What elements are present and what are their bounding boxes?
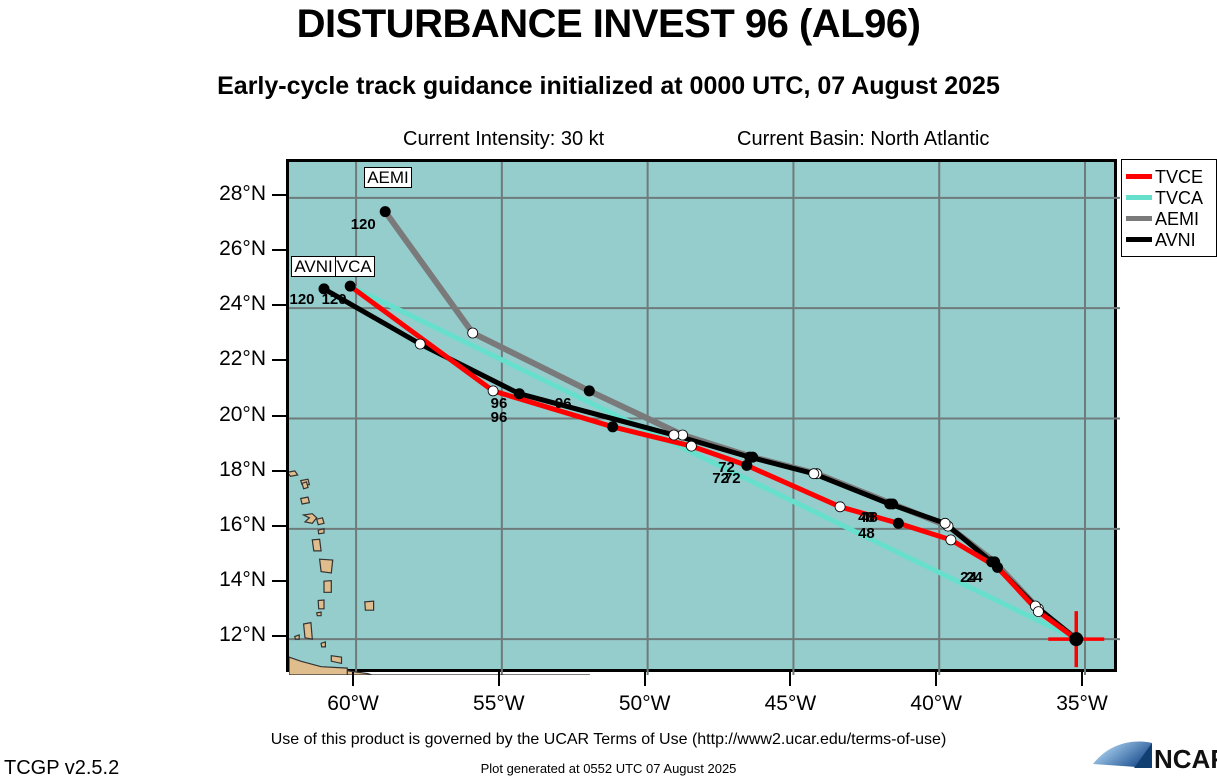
track-point-avni-108[interactable] [415,339,425,349]
forecast-hour-label-avni-48: 48 [861,509,878,526]
track-point-avni-84[interactable] [669,430,679,440]
y-axis-label: 22°N [186,347,266,371]
current-intensity-text: Current Intensity: 30 kt [403,128,604,151]
legend-label: TVCE [1155,168,1203,186]
track-point-tvce-96[interactable] [607,421,618,432]
track-map-plot[interactable] [286,159,1117,672]
track-point-aemi-96[interactable] [584,385,595,396]
x-axis-label: 40°W [886,692,986,716]
y-axis-label: 12°N [186,623,266,647]
track-point-tvce-84[interactable] [686,441,696,451]
legend-swatch-tvca [1126,195,1152,200]
y-tick-22°N [272,359,286,361]
page-title: DISTURBANCE INVEST 96 (AL96) [0,2,1217,47]
track-name-box-aemi[interactable]: AEMI [364,167,412,188]
x-axis-label: 60°W [303,692,403,716]
ncar-logo-text: NCAR [1154,744,1217,774]
legend-label: TVCA [1155,189,1203,207]
current-basin-text: Current Basin: North Atlantic [737,128,989,151]
y-axis-label: 28°N [186,182,266,206]
track-point-tvce-108[interactable] [488,386,498,396]
y-axis-label: 26°N [186,237,266,261]
track-point-avni-48[interactable] [884,499,895,510]
x-tick-50°W [644,672,646,686]
plot-generated-text: Plot generated at 0552 UTC 07 August 202… [0,761,1217,776]
y-tick-16°N [272,525,286,527]
y-axis-label: 20°N [186,403,266,427]
landmass-group [289,456,589,675]
forecast-hour-label-tvce-120: 120 [322,291,347,308]
y-axis-label: 18°N [186,458,266,482]
x-tick-45°W [789,672,791,686]
y-tick-28°N [272,194,286,196]
track-point-tvce-24[interactable] [992,562,1003,573]
track-point-aemi-120[interactable] [380,206,391,217]
legend-item-tvca[interactable]: TVCA [1126,187,1216,208]
y-tick-12°N [272,635,286,637]
y-axis-label: 16°N [186,513,266,537]
legend-item-tvce[interactable]: TVCE [1126,166,1216,187]
terms-of-use-text: Use of this product is governed by the U… [0,731,1217,749]
y-tick-20°N [272,415,286,417]
track-point-tvce-12[interactable] [1033,607,1043,617]
info-line: Current Intensity: 30 kt Current Basin: … [0,128,1217,154]
track-point-tvce-36[interactable] [946,535,956,545]
track-point-tvce-72[interactable] [741,460,752,471]
x-axis-label: 55°W [449,692,549,716]
track-point-avni-60[interactable] [809,469,819,479]
forecast-hour-label-avni-24: 24 [966,569,983,586]
legend-item-aemi[interactable]: AEMI [1126,208,1216,229]
version-text: TCGP v2.5.2 [4,757,119,780]
x-tick-40°W [935,672,937,686]
y-tick-18°N [272,470,286,472]
forecast-hour-label-aemi-96: 96 [555,395,572,412]
track-name-box-avni[interactable]: AVNI [291,256,335,277]
forecast-hour-label-avni-120: 120 [289,291,314,308]
legend-label: AEMI [1155,210,1199,228]
legend-swatch-aemi [1126,216,1152,221]
y-axis-label: 14°N [186,568,266,592]
page-subtitle: Early-cycle track guidance initialized a… [0,72,1217,101]
track-point-avni-96[interactable] [514,388,525,399]
forecast-hour-label-tvce-48: 48 [858,525,875,542]
legend[interactable]: TVCETVCAAEMIAVNI [1121,159,1217,257]
x-axis-label: 35°W [1032,692,1132,716]
legend-label: AVNI [1155,231,1196,249]
x-axis-label: 45°W [740,692,840,716]
ncar-logo: NCAR [1090,737,1217,777]
y-tick-26°N [272,249,286,251]
track-point-tvce-48[interactable] [893,518,904,529]
track-map-svg [289,162,1120,675]
forecast-hour-label-tvce-72: 72 [724,470,741,487]
x-axis-label: 50°W [595,692,695,716]
legend-item-avni[interactable]: AVNI [1126,229,1216,250]
x-tick-35°W [1081,672,1083,686]
y-tick-24°N [272,304,286,306]
x-tick-60°W [352,672,354,686]
y-tick-14°N [272,580,286,582]
x-tick-55°W [498,672,500,686]
current-position-marker [1048,611,1104,667]
forecast-hour-label-tvce-96: 96 [491,409,508,426]
track-point-aemi-108[interactable] [468,328,478,338]
track-point-tvce-60[interactable] [835,502,845,512]
legend-swatch-avni [1126,237,1152,242]
y-axis-label: 24°N [186,292,266,316]
track-point-avni-36[interactable] [940,518,950,528]
forecast-hour-label-aemi-120: 120 [351,216,376,233]
legend-swatch-tvce [1126,174,1152,179]
